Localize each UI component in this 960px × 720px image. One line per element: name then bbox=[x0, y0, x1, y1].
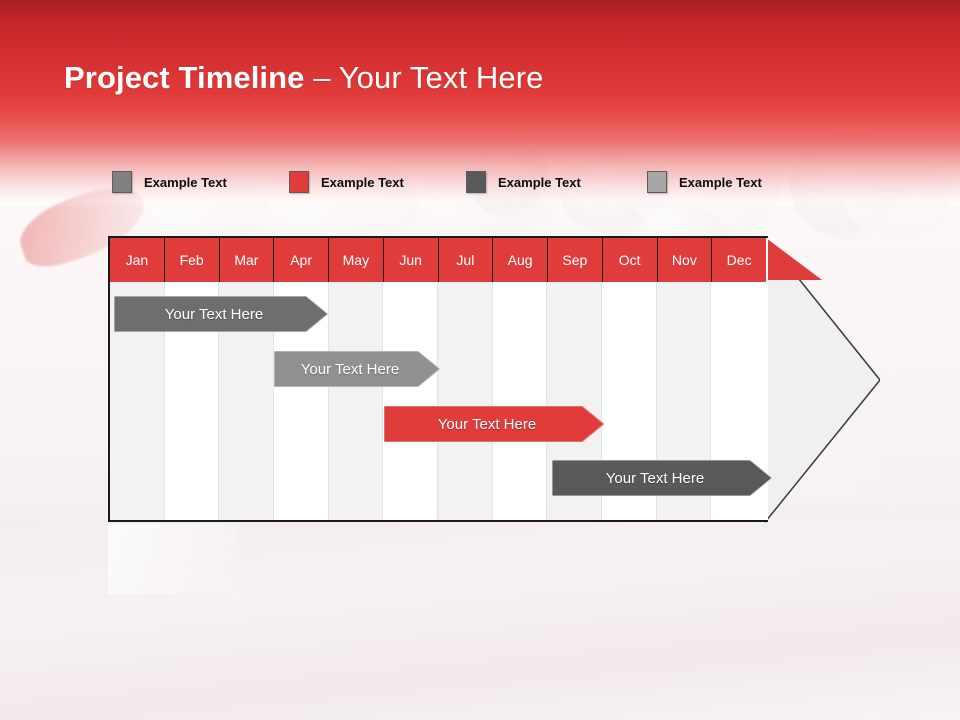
month-header-aug[interactable]: Aug bbox=[493, 238, 548, 282]
legend-swatch-icon bbox=[112, 171, 132, 193]
month-header-dec[interactable]: Dec bbox=[712, 238, 766, 282]
timeline-bar-shape bbox=[274, 351, 440, 387]
legend-swatch-icon bbox=[647, 171, 667, 193]
month-header-feb[interactable]: Feb bbox=[165, 238, 220, 282]
legend-item-4[interactable]: Example Text bbox=[647, 168, 762, 196]
month-header-oct[interactable]: Oct bbox=[603, 238, 658, 282]
legend-swatch-icon bbox=[466, 171, 486, 193]
month-header-jul[interactable]: Jul bbox=[439, 238, 494, 282]
timeline-bar-3[interactable]: Your Text Here bbox=[384, 406, 604, 442]
month-header-may[interactable]: May bbox=[329, 238, 384, 282]
background-highlight bbox=[108, 524, 238, 594]
month-header-apr[interactable]: Apr bbox=[274, 238, 329, 282]
page-title: Project Timeline – Your Text Here bbox=[64, 60, 543, 96]
legend: Example Text Example Text Example Text E… bbox=[0, 168, 960, 196]
month-header-jan[interactable]: Jan bbox=[110, 238, 165, 282]
timeline-bar-shape bbox=[114, 296, 328, 332]
gantt-header-row: Jan Feb Mar Apr May Jun Jul Aug Sep Oct … bbox=[110, 238, 766, 282]
month-header-nov[interactable]: Nov bbox=[658, 238, 713, 282]
legend-item-2[interactable]: Example Text bbox=[289, 168, 404, 196]
page-title-rest: – Your Text Here bbox=[305, 60, 544, 95]
legend-item-label: Example Text bbox=[498, 175, 581, 190]
month-header-mar[interactable]: Mar bbox=[220, 238, 275, 282]
timeline-bar-4[interactable]: Your Text Here bbox=[552, 460, 772, 496]
legend-item-label: Example Text bbox=[321, 175, 404, 190]
legend-item-label: Example Text bbox=[144, 175, 227, 190]
timeline-bar-1[interactable]: Your Text Here bbox=[114, 296, 328, 332]
month-header-sep[interactable]: Sep bbox=[548, 238, 603, 282]
legend-item-label: Example Text bbox=[679, 175, 762, 190]
timeline-bar-shape bbox=[384, 406, 604, 442]
month-header-jun[interactable]: Jun bbox=[384, 238, 439, 282]
timeline-bar-2[interactable]: Your Text Here bbox=[274, 351, 440, 387]
page-title-bold: Project Timeline bbox=[64, 60, 305, 95]
legend-item-3[interactable]: Example Text bbox=[466, 168, 581, 196]
gantt-chart: Jan Feb Mar Apr May Jun Jul Aug Sep Oct … bbox=[108, 236, 880, 524]
legend-item-1[interactable]: Example Text bbox=[112, 168, 227, 196]
legend-swatch-icon bbox=[289, 171, 309, 193]
timeline-bar-shape bbox=[552, 460, 772, 496]
slide-canvas: Project Timeline – Your Text Here Exampl… bbox=[0, 0, 960, 720]
